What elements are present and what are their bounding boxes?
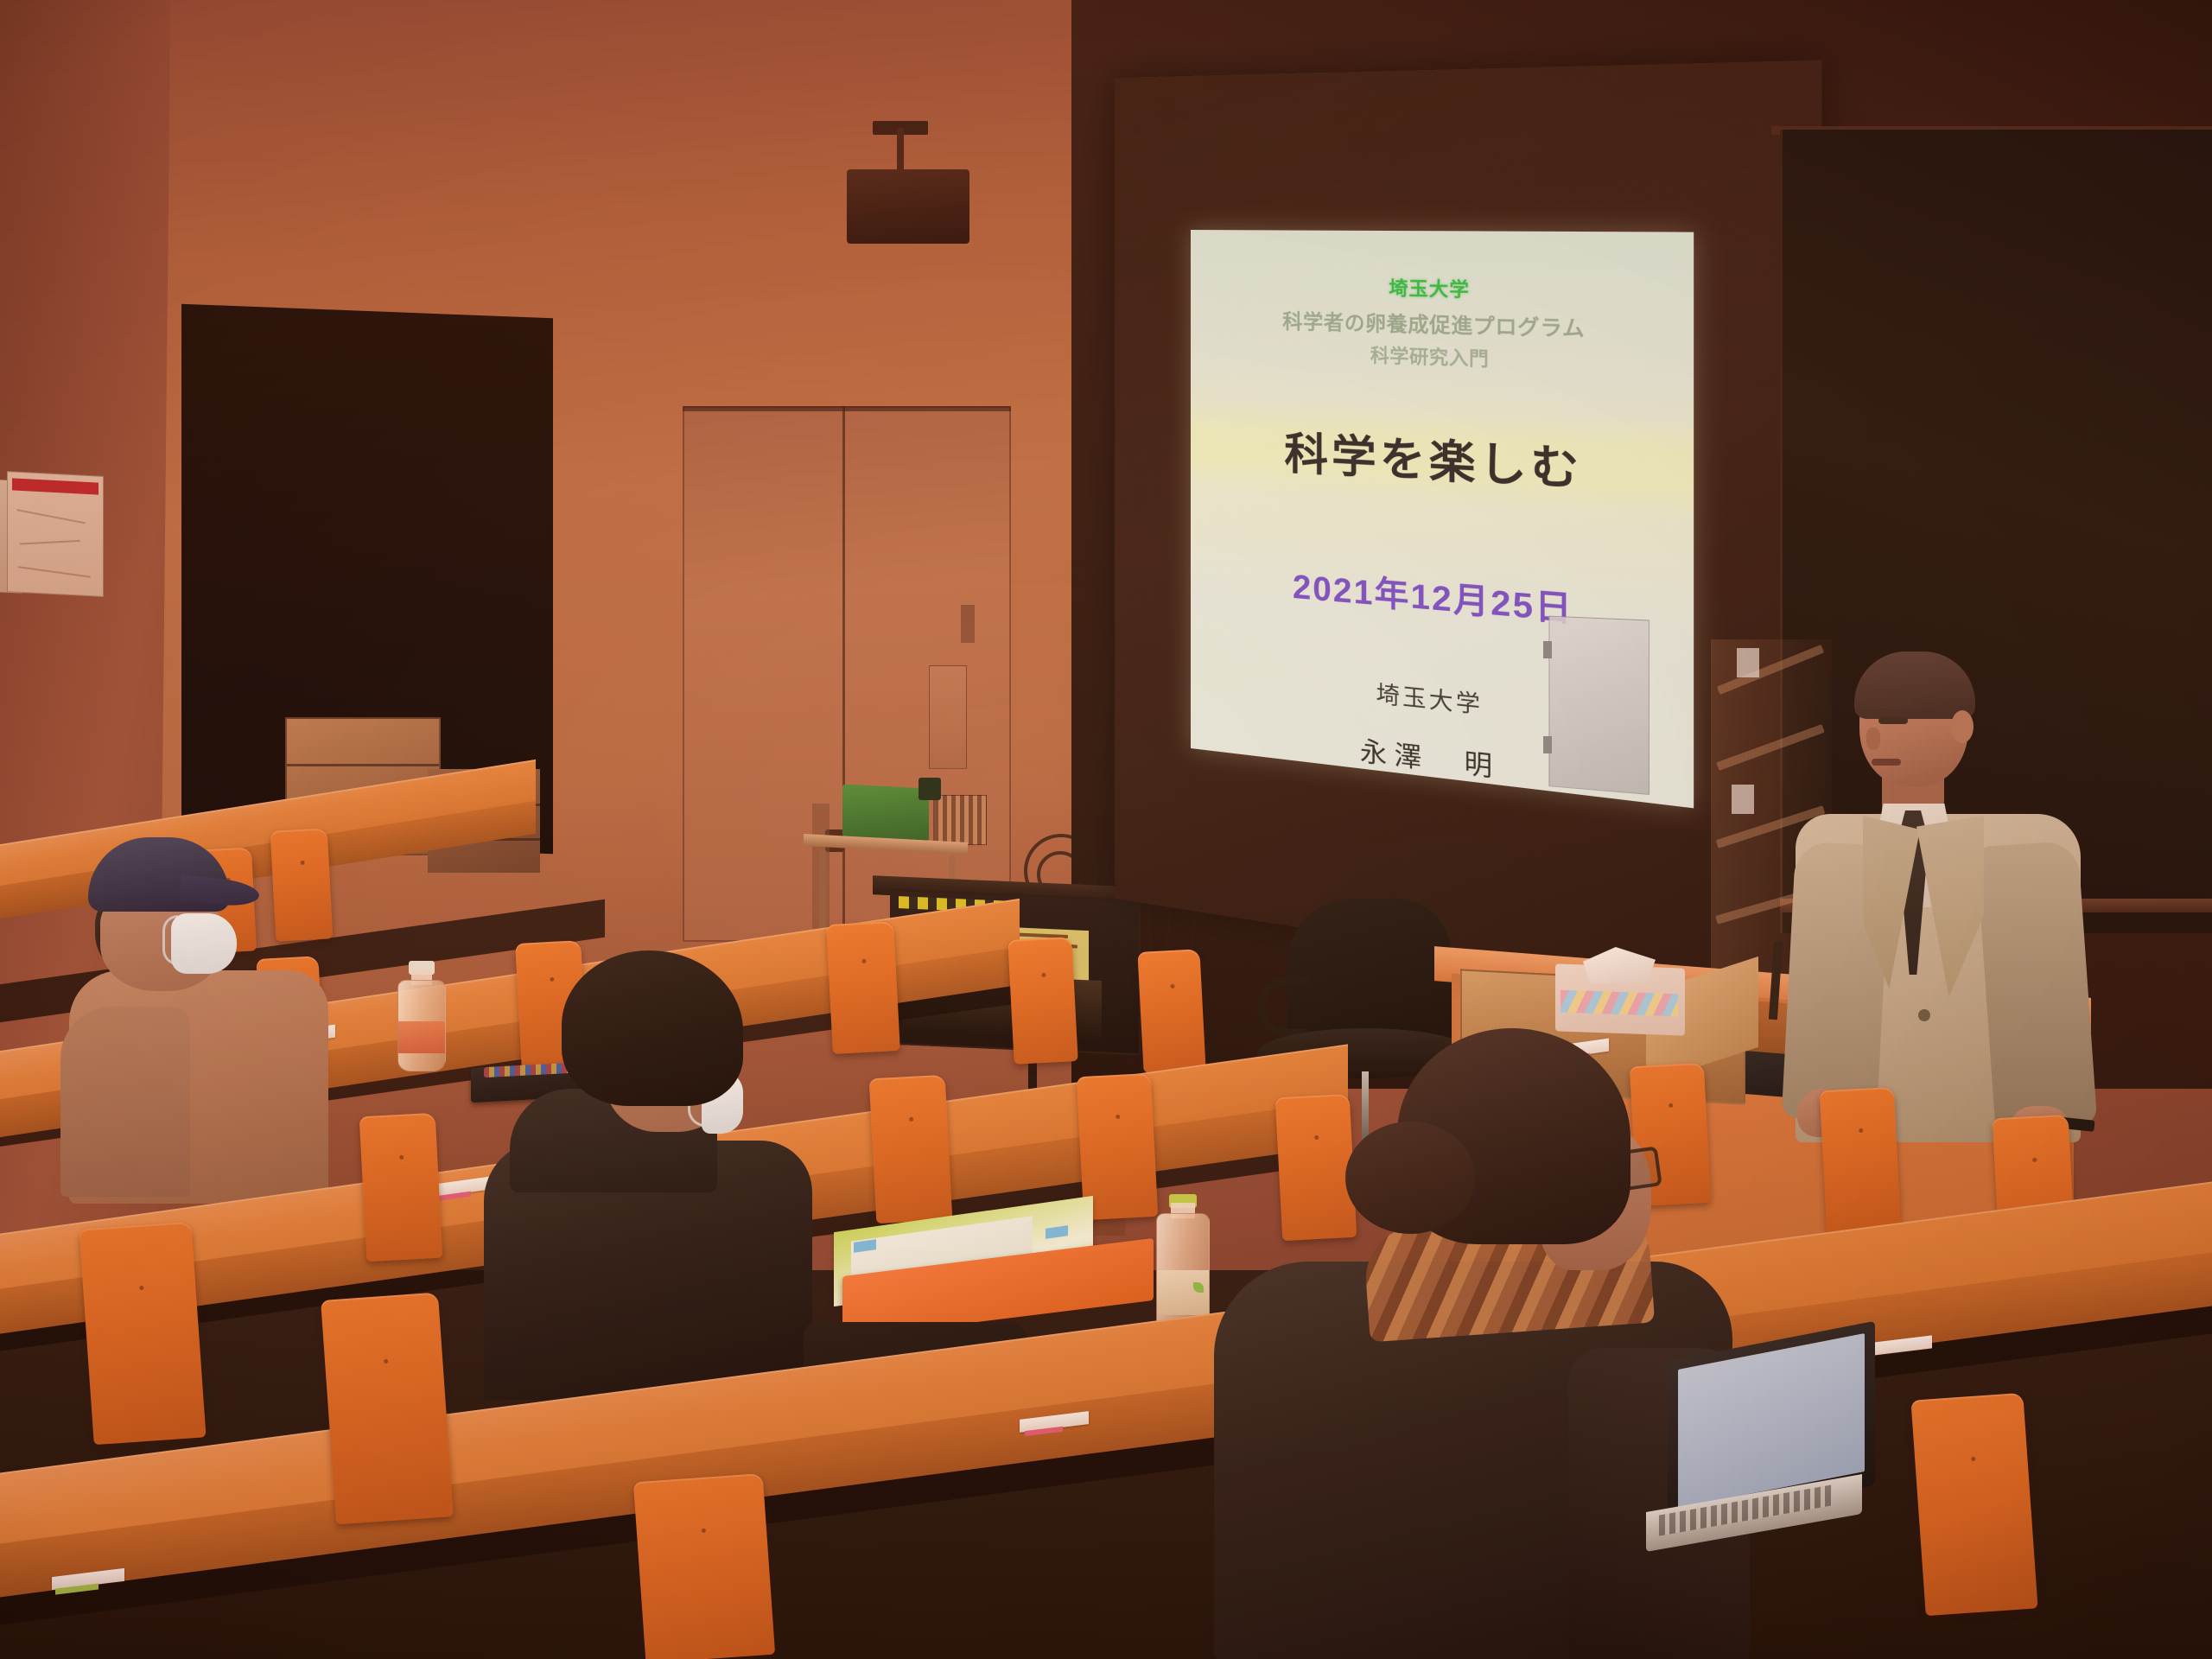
chair[interactable] [1137, 949, 1205, 1073]
slide-program: 科学者の卵養成促進プログラム [1282, 304, 1585, 342]
chair[interactable] [1007, 937, 1077, 1065]
hair-bun [1345, 1122, 1475, 1234]
water-bottle [397, 961, 446, 1071]
chair[interactable] [826, 921, 900, 1054]
presenter-nose [1866, 728, 1880, 750]
door-center-seam [842, 406, 845, 942]
presenter [1780, 657, 2091, 1141]
wall-plate [961, 605, 975, 643]
chair[interactable] [1910, 1393, 2037, 1616]
attendee-with-bun [1197, 1028, 1750, 1659]
plate-tab [1543, 736, 1552, 753]
chair[interactable] [1820, 1087, 1902, 1234]
student1-shoulder [60, 1007, 190, 1197]
face-mask [171, 913, 237, 974]
slide-date: 2021年12月25日 [1293, 559, 1573, 632]
equipment-knob [918, 778, 941, 800]
slide-university: 埼玉大学 [1389, 274, 1470, 302]
student-with-cap [69, 825, 346, 1197]
bottle-body [397, 980, 446, 1071]
slide-affiliation: 埼玉大学 [1376, 676, 1484, 721]
chair[interactable] [359, 1113, 443, 1262]
ceiling-speaker-icon [847, 169, 969, 244]
bottle-label [398, 1021, 445, 1053]
light-switch-panel[interactable] [929, 665, 967, 769]
door-frame-top [683, 406, 1011, 411]
jacket-button [1918, 1009, 1930, 1021]
reflective-wall-plate [1548, 616, 1649, 795]
chair[interactable] [321, 1293, 454, 1525]
chair[interactable] [633, 1473, 775, 1659]
student2-hair [562, 950, 743, 1106]
lecture-hall-photo: 埼玉大学 科学者の卵養成促進プログラム 科学研究入門 科学を楽しむ 2021年1… [0, 0, 2212, 1659]
presenter-mouth [1872, 759, 1901, 766]
chair[interactable] [869, 1075, 953, 1224]
wall-vent-grille [933, 795, 987, 845]
plate-tab [1543, 641, 1552, 658]
slide-title: 科学を楽しむ [1284, 417, 1582, 499]
presenter-ear [1951, 710, 1974, 743]
slide-title-band: 科学を楽しむ [1191, 400, 1694, 520]
green-equipment-box [842, 784, 929, 842]
tissue-box-pattern [1560, 990, 1678, 1017]
speaker-rod [897, 128, 904, 173]
slide-subtitle: 科学研究入門 [1370, 341, 1489, 372]
presenter-hair [1854, 652, 1975, 719]
presenter-right-arm [1976, 840, 2098, 1131]
chair[interactable] [79, 1222, 206, 1445]
presenter-eye [1878, 717, 1908, 724]
student-in-hoodie [501, 950, 812, 1400]
